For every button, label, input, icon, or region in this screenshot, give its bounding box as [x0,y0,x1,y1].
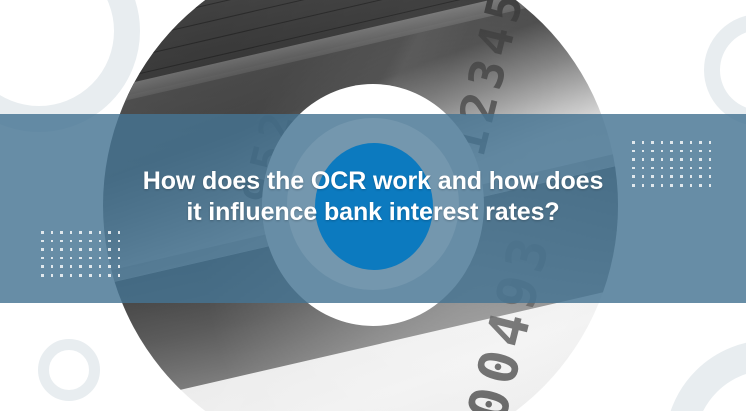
dot [699,141,702,144]
dot [70,257,73,260]
dot [118,257,121,260]
dot [51,240,54,243]
dot [118,248,121,251]
dot [70,265,73,268]
dot [651,158,654,161]
dot [651,141,654,144]
dot [70,248,73,251]
dot [118,265,121,268]
dot [60,240,63,243]
dot [699,167,702,170]
dot [60,248,63,251]
dot [60,265,63,268]
dot [651,184,654,187]
dot [661,184,664,187]
dot [89,231,92,234]
dot [670,167,673,170]
dot [99,240,102,243]
dot [709,184,712,187]
dot [51,257,54,260]
dot [79,257,82,260]
decorative-ring-bottom-left-icon [38,339,100,401]
dot [699,184,702,187]
dot [99,265,102,268]
dot [642,141,645,144]
dot [99,257,102,260]
dot-grid-right [632,141,718,193]
decorative-ring-bottom-right-icon [665,340,746,411]
dot [670,150,673,153]
dot [70,231,73,234]
dot [661,141,664,144]
dot [108,274,111,277]
dot [108,240,111,243]
dot [661,175,664,178]
dot [680,184,683,187]
dot [642,175,645,178]
dot [632,150,635,153]
dot [670,158,673,161]
dot [89,240,92,243]
dot [661,158,664,161]
dot [632,175,635,178]
dot [60,257,63,260]
dot [661,167,664,170]
page-title: How does the OCR work and how does it in… [133,166,613,228]
dot [79,248,82,251]
dot [632,141,635,144]
dot [108,257,111,260]
dot [89,265,92,268]
dot [79,231,82,234]
dot [670,184,673,187]
dot [699,175,702,178]
dot [690,184,693,187]
dot [70,274,73,277]
dot [41,240,44,243]
dot [661,150,664,153]
dot [680,175,683,178]
dot [41,257,44,260]
dot [41,248,44,251]
dot [41,231,44,234]
dot [70,240,73,243]
dot [632,167,635,170]
dot [99,231,102,234]
dot [680,158,683,161]
dot [709,150,712,153]
dot [632,184,635,187]
dot [642,184,645,187]
dot [41,274,44,277]
dot [51,231,54,234]
dot [709,167,712,170]
dot [99,274,102,277]
dot [670,141,673,144]
dot [60,274,63,277]
dot [709,175,712,178]
dot [89,248,92,251]
dot [632,158,635,161]
dot [680,150,683,153]
dot [699,158,702,161]
dot [709,158,712,161]
dot [79,265,82,268]
dot [51,274,54,277]
dot [690,141,693,144]
dot [89,257,92,260]
dot [79,240,82,243]
dot [690,175,693,178]
dot [680,167,683,170]
dot [118,274,121,277]
dot [651,175,654,178]
dot [670,175,673,178]
dot [709,141,712,144]
dot [108,265,111,268]
dot [51,265,54,268]
dot [41,265,44,268]
dot [118,231,121,234]
dot [108,231,111,234]
dot [690,150,693,153]
dot [651,167,654,170]
dot [690,167,693,170]
dot [108,248,111,251]
decorative-ring-top-right-icon [704,14,746,126]
dot [699,150,702,153]
dot [642,167,645,170]
dot [690,158,693,161]
dot [118,240,121,243]
dot-grid-left [41,231,127,283]
dot [642,158,645,161]
dot [60,231,63,234]
dot [89,274,92,277]
dot [680,141,683,144]
dot [99,248,102,251]
dot [79,274,82,277]
article-header-banner: 12345 952 200493 How does the OCR work a… [0,0,746,411]
dot [51,248,54,251]
dot [642,150,645,153]
dot [651,150,654,153]
